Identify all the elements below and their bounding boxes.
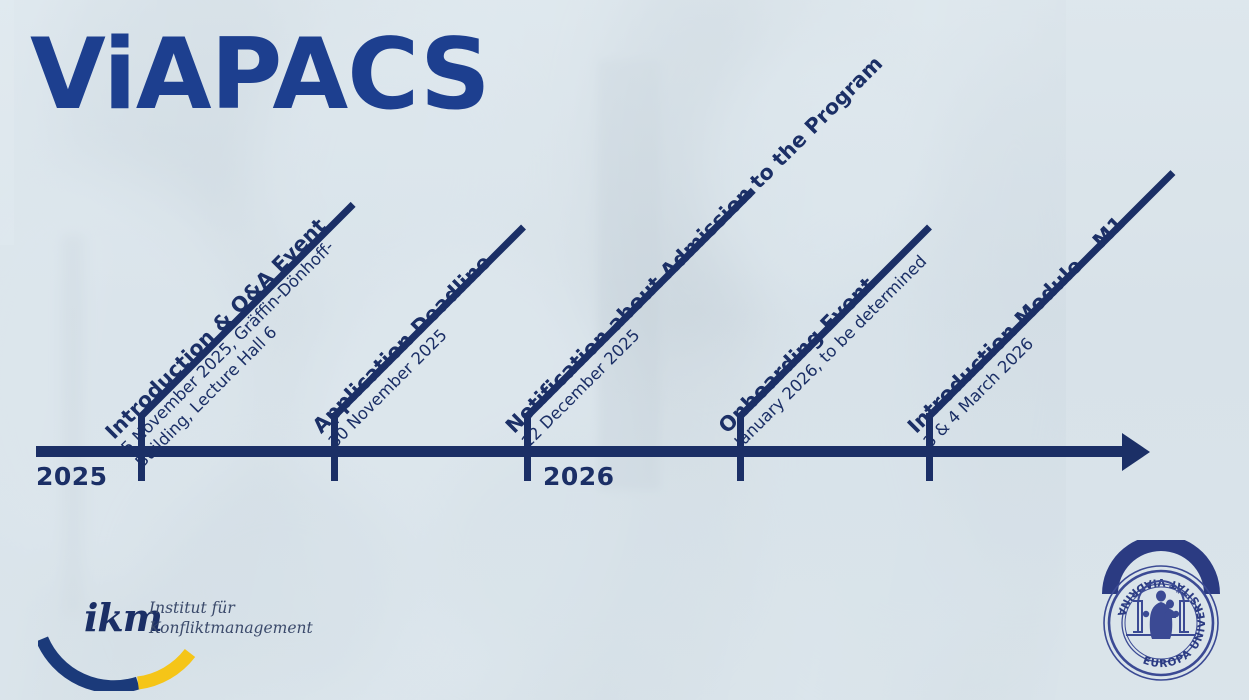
axis-year-2026: 2026: [543, 462, 615, 491]
page-title: ViAPACS: [30, 26, 490, 124]
timeline-arrow-icon: [1122, 433, 1150, 471]
axis-year-2025: 2025: [36, 462, 108, 491]
ikm-arc-icon: [38, 631, 248, 691]
university-seal-logo: EUROPA UNIVERSITÄT VIADRINA: [1086, 540, 1236, 690]
ikm-logo: ikm Institut für Konfliktmanagement: [42, 585, 292, 680]
poster-canvas: ViAPACS 2025 2026 Introduction & Q&A Eve…: [0, 0, 1249, 700]
timeline-axis: [36, 446, 1132, 457]
ikm-subtitle-line-1: Institut für: [149, 598, 313, 618]
